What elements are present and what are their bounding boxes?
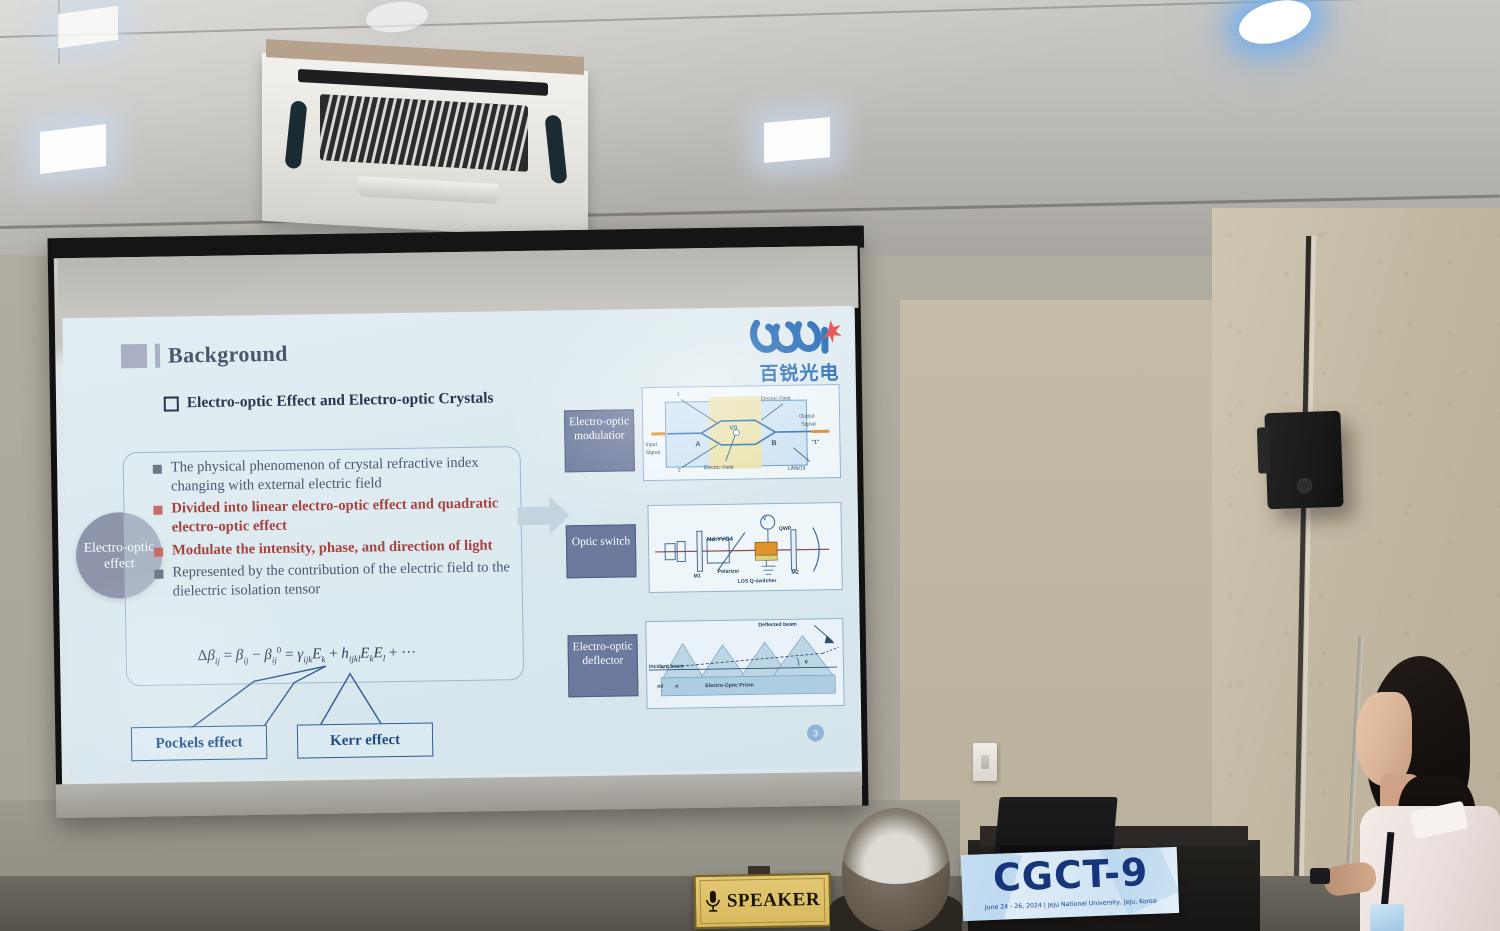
title-bar-icon — [155, 344, 160, 368]
diagram-modulator: 1 2 Electric Field Electric Field Input … — [642, 384, 841, 481]
microphone-icon — [705, 890, 721, 914]
callout-label: Kerr effect — [330, 731, 400, 749]
list-item: Represented by the contribution of the e… — [154, 558, 523, 601]
bullet-text: Represented by the contribution of the e… — [172, 558, 523, 601]
ac-lower-vent — [358, 176, 498, 204]
slide-subheading-text: Electro-optic Effect and Electro-optic C… — [187, 389, 494, 412]
switch-toggle[interactable] — [981, 755, 989, 769]
diagram-optic-switch: V Nd:YVO4 QWP M1 Polarizer LGS Q-switche… — [647, 502, 842, 593]
event-banner: CGCT-9 June 24 - 26, 2024 | Jeju Nationa… — [961, 847, 1179, 921]
square-outline-icon — [164, 396, 179, 411]
page-title: Background — [168, 341, 288, 369]
speaker-bracket — [1257, 427, 1271, 473]
speaker-sign-inner: SPEAKER — [700, 878, 826, 924]
callout-pockels: Pockels effect — [131, 725, 268, 761]
bullet-square-icon — [153, 506, 162, 515]
bullet-text: Modulate the intensity, phase, and direc… — [172, 536, 493, 560]
bullet-text: The physical phenomenon of crystal refra… — [171, 453, 522, 496]
app-label-text: Electro-optic modulatior — [569, 415, 629, 442]
diagram-deflector: Deflected beam Incident beam Electro-Opt… — [645, 618, 844, 709]
equation: Δβij = βij − βij0 = γijkEk + hijklEkEl +… — [198, 643, 417, 666]
attendee-hair — [838, 806, 954, 884]
bullet-square-icon — [153, 465, 162, 474]
equation-text: Δβij = βij − βij0 = γijkEk + hijklEkEl +… — [198, 645, 417, 664]
banner-title: CGCT-9 — [975, 849, 1167, 900]
panel-light — [40, 124, 106, 174]
app-label-modulator: Electro-optic modulatior — [564, 409, 635, 472]
ceiling-air-conditioner — [262, 53, 588, 239]
ac-vent — [284, 100, 307, 170]
projected-slide: Background 百锐光电 Electro-optic Effect and… — [62, 306, 859, 780]
app-label-switch: Optic switch — [566, 524, 637, 578]
ac-bar — [298, 69, 548, 96]
conference-room-photo: Background 百锐光电 Electro-optic Effect and… — [0, 0, 1500, 931]
callout-kerr: Kerr effect — [297, 722, 434, 758]
company-logo: 百锐光电 — [746, 314, 851, 388]
app-label-text: Optic switch — [572, 535, 631, 548]
presenter — [1352, 656, 1500, 931]
wall-light-switch[interactable] — [973, 743, 997, 781]
logo-mark-icon — [746, 314, 851, 362]
bullet-square-icon — [154, 547, 163, 556]
wall-mounted-loudspeaker — [1264, 411, 1343, 510]
bullet-square-icon — [154, 570, 163, 579]
ac-grille — [320, 94, 528, 172]
list-item: The physical phenomenon of crystal refra… — [153, 453, 522, 496]
slide-title-block: Background — [121, 341, 288, 370]
slide-subheading: Electro-optic Effect and Electro-optic C… — [164, 389, 494, 412]
title-square-icon — [121, 344, 147, 368]
presenter-face — [1356, 692, 1412, 786]
presentation-clicker[interactable] — [1310, 868, 1330, 884]
ac-vent — [544, 115, 567, 184]
list-item: Modulate the intensity, phase, and direc… — [154, 536, 522, 560]
bullet-list: The physical phenomenon of crystal refra… — [153, 453, 523, 605]
bullet-text: Divided into linear electro-optic effect… — [171, 494, 522, 537]
flow-arrow-body — [517, 507, 551, 526]
speaker-sign: SPEAKER — [694, 873, 832, 929]
speaker-sign-label: SPEAKER — [727, 889, 821, 913]
app-label-text: Electro-optic deflector — [573, 640, 633, 667]
list-item: Divided into linear electro-optic effect… — [153, 494, 522, 537]
speaker-driver — [1297, 478, 1313, 494]
slide-page-number: 3 — [807, 724, 824, 741]
panel-light — [764, 117, 830, 163]
callout-label: Pockels effect — [155, 734, 242, 752]
presenter-badge — [1370, 904, 1404, 931]
app-label-deflector: Electro-optic deflector — [567, 634, 638, 697]
logo-text-cn: 百锐光电 — [747, 358, 851, 387]
